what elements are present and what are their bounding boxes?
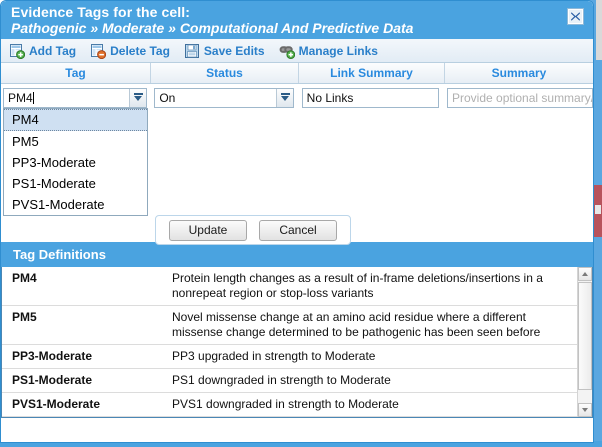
manage-links-label: Manage Links [299,44,378,58]
save-edits-label: Save Edits [204,44,265,58]
status-input-value: On [155,89,292,107]
background-page-marker-inner [595,205,601,214]
close-button[interactable] [567,8,584,25]
save-edits-icon [184,43,200,59]
add-tag-icon [9,43,25,59]
dialog-toolbar: Add Tag Delete Tag [1,39,593,63]
definition-term: PVS1-Moderate [2,393,170,417]
column-header-link-summary[interactable]: Link Summary [299,63,445,83]
tag-option-2[interactable]: PP3-Moderate [4,152,147,173]
status-field-wrap: On [150,88,297,108]
table-row: PS1-Moderate PS1 downgraded in strength … [2,369,592,393]
definition-term: PM4 [2,267,170,306]
tag-option-3[interactable]: PS1-Moderate [4,173,147,194]
table-row: PM4 Protein length changes as a result o… [2,267,592,306]
link-summary-input[interactable]: No Links [302,88,439,108]
tag-option-0[interactable]: PM4 [4,109,147,131]
definition-desc: PP3 upgraded in strength to Moderate [170,345,592,369]
close-icon [570,11,581,22]
background-page-scrollbar [596,0,602,60]
dialog-title: Evidence Tags for the cell: [11,4,593,20]
tags-grid-header: Tag Status Link Summary Summary [1,63,593,84]
tag-edit-row: PM4 On No Links Provide optional summary… [1,84,593,109]
tag-definitions-panel: PM4 Protein length changes as a result o… [1,267,593,418]
dialog-titlebar: Evidence Tags for the cell: Pathogenic »… [1,1,593,39]
add-tag-label: Add Tag [29,44,76,58]
column-header-summary[interactable]: Summary [445,63,593,83]
delete-tag-icon [90,43,106,59]
evidence-tags-dialog: Evidence Tags for the cell: Pathogenic »… [0,0,594,443]
manage-links-button[interactable]: Manage Links [279,43,378,59]
manage-links-icon [279,43,295,59]
tag-definitions-table: PM4 Protein length changes as a result o… [2,267,592,417]
column-header-tag[interactable]: Tag [1,63,151,83]
definition-desc: PVS1 downgraded in strength to Moderate [170,393,592,417]
tag-option-1[interactable]: PM5 [4,131,147,152]
scroll-up-icon[interactable] [578,267,592,281]
edit-actions-bar: Update Cancel [155,215,351,245]
tag-input-value: PM4 [4,89,146,107]
tag-combobox[interactable]: PM4 [3,88,147,108]
dialog-subtitle-breadcrumb: Pathogenic » Moderate » Computational An… [11,20,593,37]
status-dropdown-arrow[interactable] [276,89,293,107]
table-row: PM5 Novel missense change at an amino ac… [2,306,592,345]
save-edits-button[interactable]: Save Edits [184,43,265,59]
table-row: PVS1-Moderate PVS1 downgraded in strengt… [2,393,592,417]
tag-option-4[interactable]: PVS1-Moderate [4,194,147,215]
scroll-down-icon[interactable] [578,403,592,417]
summary-field-wrap: Provide optional summary/co [443,88,593,108]
update-button[interactable]: Update [169,220,247,241]
status-combobox[interactable]: On [154,88,293,108]
summary-input[interactable]: Provide optional summary/co [447,88,593,108]
tag-field-wrap: PM4 [1,88,150,108]
definition-desc: Novel missense change at an amino acid r… [170,306,592,345]
definition-term: PP3-Moderate [2,345,170,369]
column-header-status[interactable]: Status [151,63,299,83]
scrollbar-thumb[interactable] [578,282,592,390]
link-summary-field-wrap: No Links [298,88,443,108]
table-row: PP3-Moderate PP3 upgraded in strength to… [2,345,592,369]
delete-tag-label: Delete Tag [110,44,170,58]
add-tag-button[interactable]: Add Tag [9,43,76,59]
definition-desc: PS1 downgraded in strength to Moderate [170,369,592,393]
text-caret [33,92,34,104]
tag-dropdown-list[interactable]: PM4 PM5 PP3-Moderate PS1-Moderate PVS1-M… [3,108,148,216]
definition-term: PS1-Moderate [2,369,170,393]
definition-term: PM5 [2,306,170,345]
tag-dropdown-arrow[interactable] [129,89,146,107]
cancel-button[interactable]: Cancel [259,220,337,241]
definition-desc: Protein length changes as a result of in… [170,267,592,306]
screen: Evidence Tags for the cell: Pathogenic »… [0,0,602,447]
tag-definitions-heading: Tag Definitions [1,242,593,267]
delete-tag-button[interactable]: Delete Tag [90,43,170,59]
definitions-scrollbar[interactable] [577,267,592,417]
